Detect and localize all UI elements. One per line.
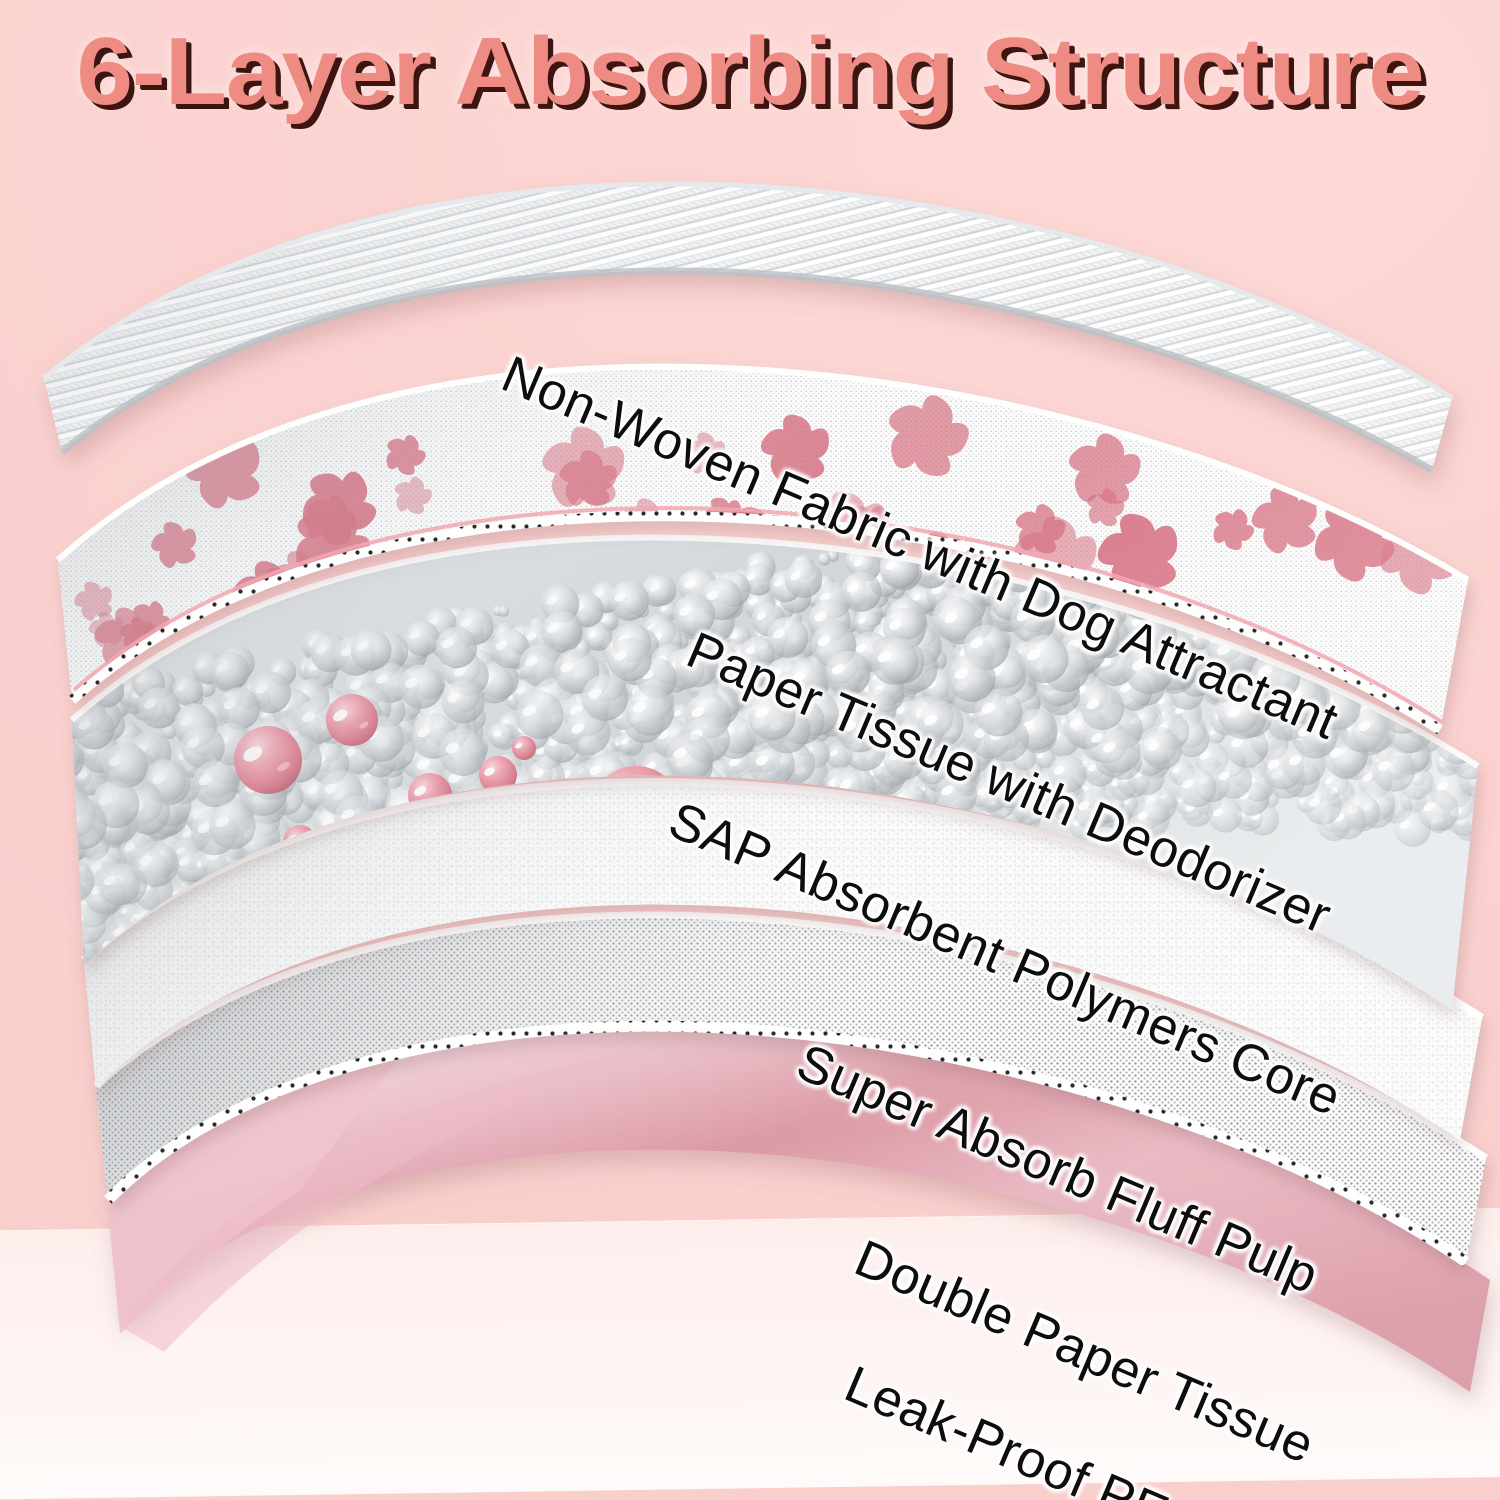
- infographic-canvas: 6-Layer Absorbing Structure Non-Woven Fa…: [0, 0, 1500, 1500]
- page-title: 6-Layer Absorbing Structure: [0, 24, 1500, 120]
